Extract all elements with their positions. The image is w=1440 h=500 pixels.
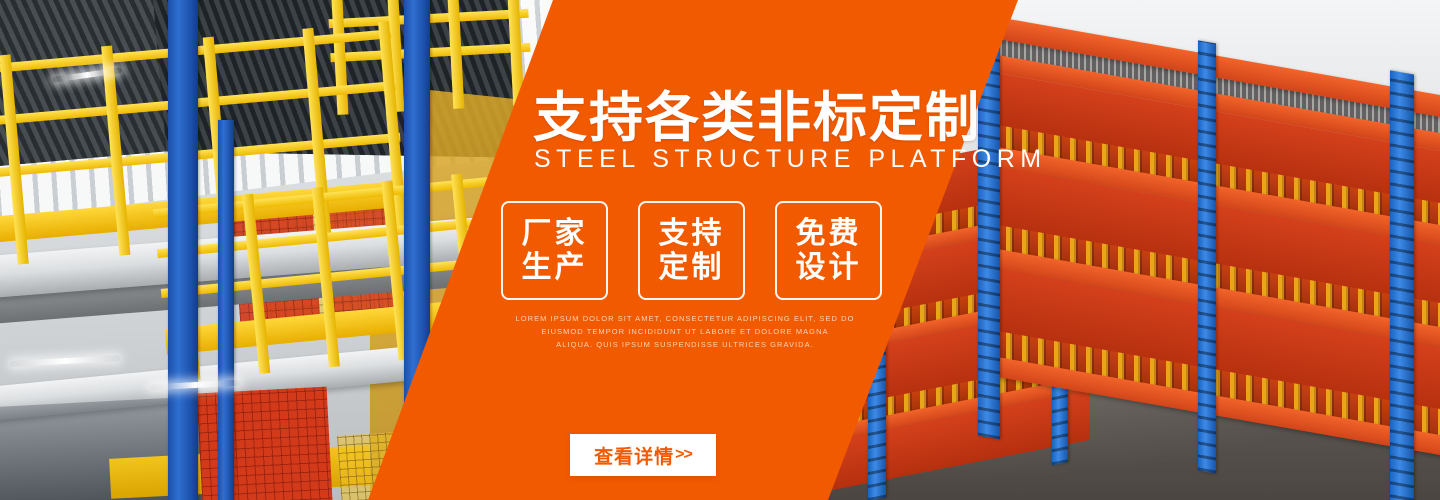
feature-box-manufacturer: 厂家 生产 — [501, 201, 608, 300]
lorem-line: EIUSMOD TEMPOR INCIDIDUNT UT LABORE ET D… — [505, 325, 865, 338]
feature-box-line1: 厂家 — [522, 217, 588, 251]
feature-box-line1: 支持 — [659, 217, 725, 251]
promo-banner: 支持各类非标定制 STEEL STRUCTURE PLATFORM 厂家 生产 … — [0, 0, 1440, 500]
banner-content: 支持各类非标定制 STEEL STRUCTURE PLATFORM 厂家 生产 … — [0, 0, 1440, 500]
page-title: 支持各类非标定制 — [533, 73, 981, 152]
feature-box-free-design: 免费 设计 — [775, 201, 882, 300]
feature-box-line1: 免费 — [796, 217, 862, 251]
feature-box-line2: 定制 — [659, 251, 725, 285]
feature-box-line2: 设计 — [796, 251, 862, 285]
subtitle: STEEL STRUCTURE PLATFORM — [534, 145, 1047, 174]
lorem-line: LOREM IPSUM DOLOR SIT AMET, CONSECTETUR … — [505, 312, 865, 325]
lorem-line: ALIQUA. QUIS IPSUM SUSPENDISSE ULTRICES … — [505, 338, 865, 351]
view-details-label: 查看详情 — [594, 442, 674, 469]
feature-box-customization: 支持 定制 — [638, 201, 745, 300]
double-chevron-right-icon: >> — [675, 446, 692, 464]
lorem-description: LOREM IPSUM DOLOR SIT AMET, CONSECTETUR … — [505, 312, 865, 351]
view-details-button[interactable]: 查看详情 >> — [570, 434, 716, 476]
feature-box-line2: 生产 — [522, 251, 588, 285]
feature-box-list: 厂家 生产 支持 定制 免费 设计 — [501, 201, 882, 300]
